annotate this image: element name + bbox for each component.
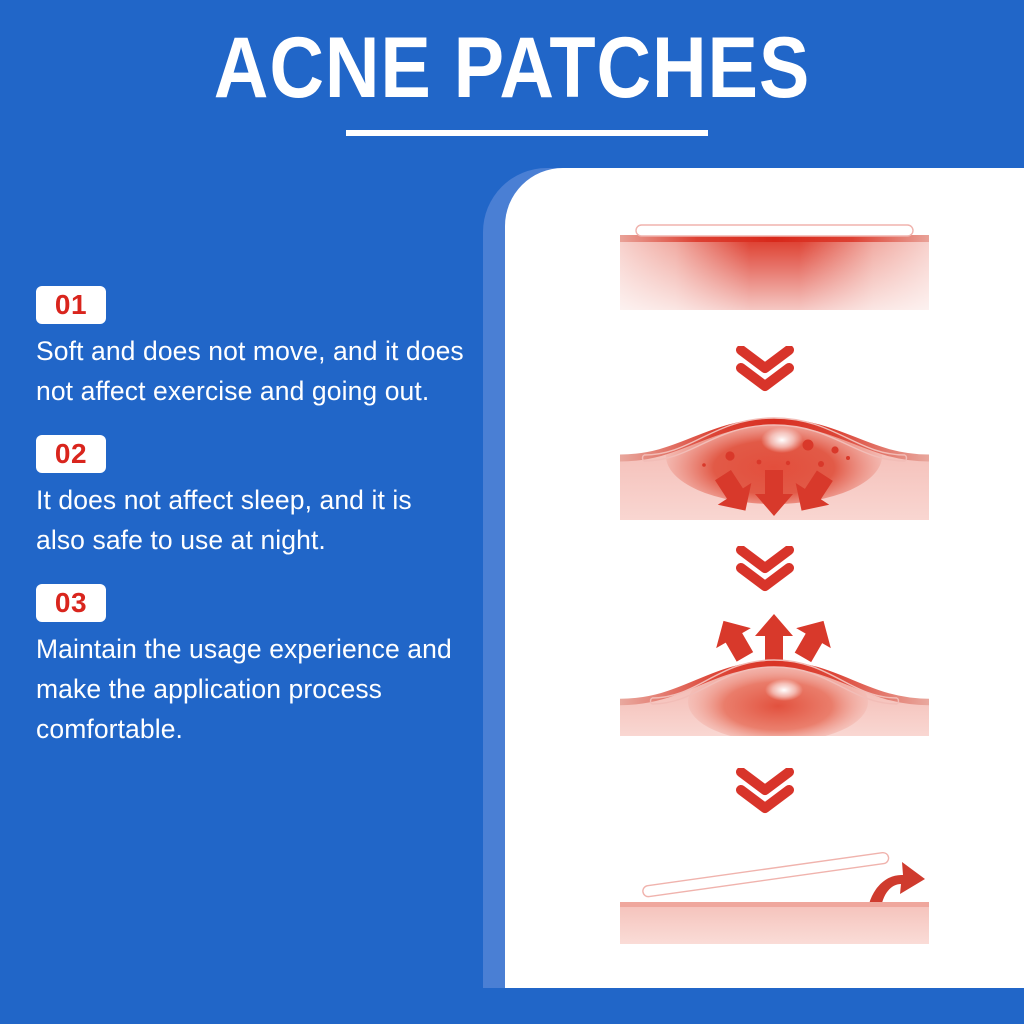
skin-cross-section-flat-inflamed (612, 220, 937, 330)
feature-number-badge: 02 (36, 435, 106, 473)
feature-description: Soft and does not move, and it does not … (36, 331, 466, 411)
page-title: ACNE PATCHES (61, 24, 962, 112)
acne-patch-outline (636, 225, 913, 236)
feature-number-badge: 01 (36, 286, 106, 324)
poster-canvas: ACNE PATCHES 01 Soft and does not move, … (0, 0, 1024, 1024)
skin-cross-section-inflamed-bump (612, 408, 937, 533)
step-flat-inflamed-skin-with-patch (612, 220, 937, 330)
skin-cross-section-reduced-bump (612, 608, 937, 743)
illustration-card (505, 168, 1024, 988)
feature-list: 01 Soft and does not move, and it does n… (36, 286, 466, 749)
feature-description: It does not affect sleep, and it is also… (36, 480, 466, 560)
step-patch-absorbing-pimple (612, 408, 937, 533)
feature-item-03: 03 Maintain the usage experience and mak… (36, 584, 466, 749)
skin-cross-section-healed-with-peeling-patch (612, 818, 937, 948)
step-patch-removal (612, 818, 937, 948)
step-pimple-reducing (612, 608, 937, 743)
illustration-steps (505, 168, 1024, 988)
feature-description: Maintain the usage experience and make t… (36, 629, 466, 749)
double-chevron-down-icon (505, 768, 1024, 814)
title-underline (346, 130, 708, 136)
feature-item-02: 02 It does not affect sleep, and it is a… (36, 435, 466, 560)
acne-patch-peeling (642, 852, 889, 897)
double-chevron-down-icon (505, 346, 1024, 392)
absorption-arrows-up (706, 611, 841, 667)
double-chevron-down-icon (505, 546, 1024, 592)
title-block: ACNE PATCHES (0, 24, 1024, 112)
feature-number-badge: 03 (36, 584, 106, 622)
feature-item-01: 01 Soft and does not move, and it does n… (36, 286, 466, 411)
